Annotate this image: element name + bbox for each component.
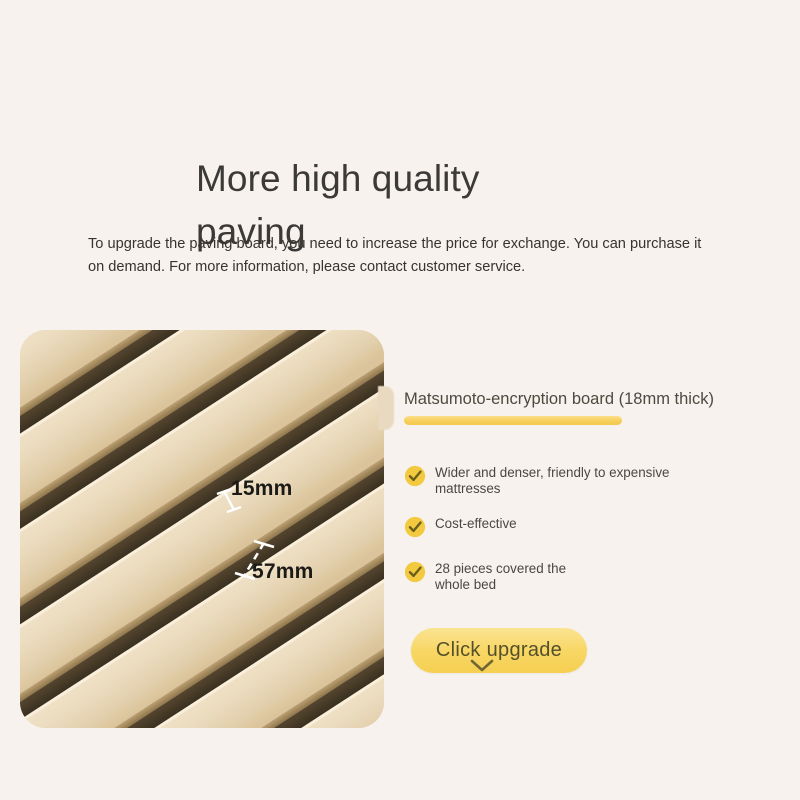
feature-item: Wider and denser, friendly to expensive …	[404, 464, 772, 497]
check-circle-icon	[404, 516, 426, 538]
board-info-panel: Matsumoto-encryption board (18mm thick) …	[404, 388, 772, 611]
feature-text: 28 pieces covered the whole bed	[435, 560, 585, 593]
feature-list: Wider and denser, friendly to expensive …	[404, 464, 772, 593]
check-circle-icon	[404, 561, 426, 583]
board-title: Matsumoto-encryption board (18mm thick)	[404, 388, 772, 410]
feature-text: Cost-effective	[435, 515, 517, 532]
feature-text: Wider and denser, friendly to expensive …	[435, 464, 725, 497]
click-upgrade-button[interactable]: Click upgrade	[411, 628, 587, 673]
photo-callout-pointer	[378, 386, 394, 430]
board-title-underline	[404, 416, 622, 425]
feature-item: Cost-effective	[404, 515, 772, 538]
wooden-slat-photo	[20, 330, 384, 728]
top-left-card-curve	[0, 0, 40, 80]
feature-item: 28 pieces covered the whole bed	[404, 560, 772, 593]
top-right-card-curve	[760, 0, 800, 80]
wood-slats-illustration	[20, 330, 384, 728]
check-circle-icon	[404, 465, 426, 487]
page-description: To upgrade the paving board, you need to…	[88, 233, 718, 279]
dimension-label-57mm: 57mm	[252, 560, 314, 584]
product-promo-page: More high quality paving To upgrade the …	[0, 0, 800, 800]
dimension-label-15mm: 15mm	[231, 477, 293, 501]
